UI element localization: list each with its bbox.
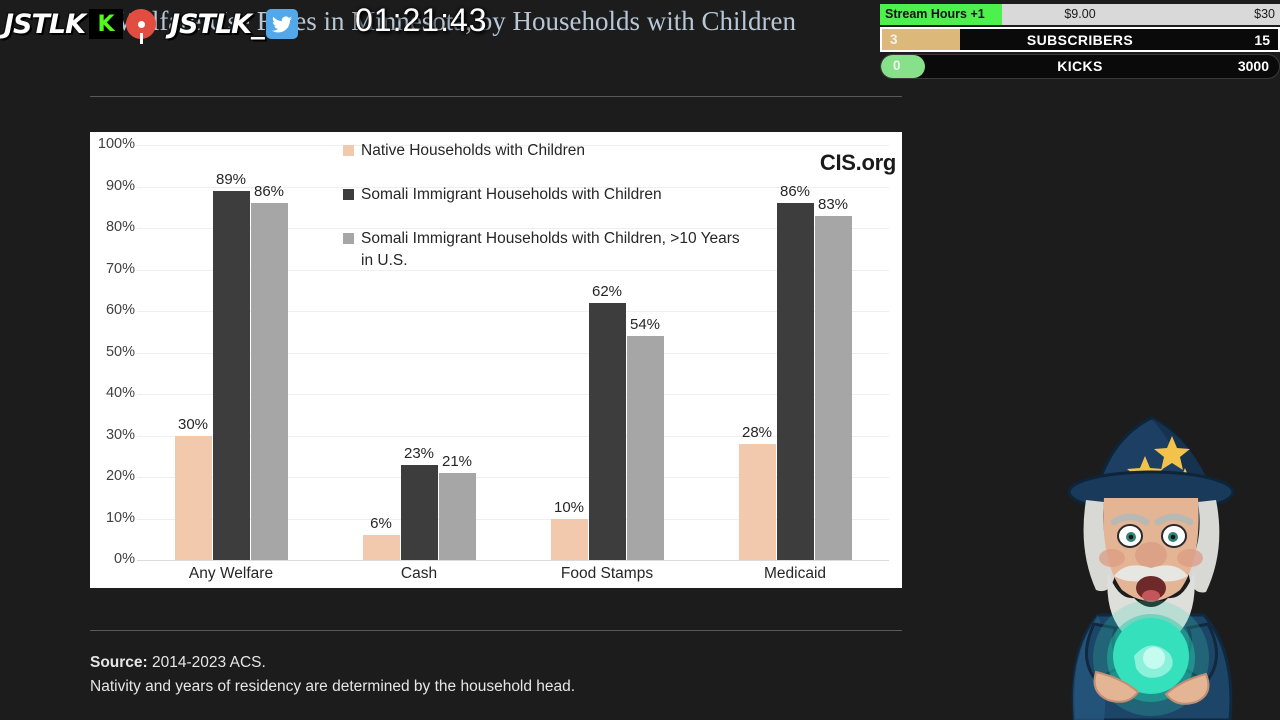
- bar-body: [401, 465, 438, 560]
- legend-swatch: [343, 233, 354, 244]
- bar-value-label: 54%: [630, 316, 660, 333]
- y-tick-label: 0%: [91, 551, 135, 567]
- y-tick-label: 40%: [91, 385, 135, 401]
- x-axis-label: Cash: [401, 565, 437, 583]
- gridline: [137, 560, 889, 561]
- bar-value-label: 28%: [742, 424, 772, 441]
- y-tick-label: 60%: [91, 302, 135, 318]
- goal-target-kicks: 3000: [1238, 58, 1269, 74]
- channel-badges: JSTLK K JSTLK_: [4, 4, 312, 44]
- wizard-avatar: [1038, 400, 1264, 720]
- y-tick-label: 100%: [91, 136, 135, 152]
- bar-value-label: 6%: [370, 515, 392, 532]
- y-tick-label: 90%: [91, 178, 135, 194]
- handle-label-1: JSTLK: [4, 9, 85, 40]
- y-tick-label: 80%: [91, 219, 135, 235]
- bar-value-label: 86%: [254, 183, 284, 200]
- bar-body: [777, 203, 814, 560]
- legend-item[interactable]: Native Households with Children: [343, 140, 763, 162]
- x-axis-label: Medicaid: [764, 565, 826, 583]
- source-line: Source: 2014-2023 ACS.: [90, 651, 850, 675]
- stream-screen: 3. Welfare Use Rates in Minnesota, by Ho…: [0, 0, 1280, 720]
- bar-body: [815, 216, 852, 560]
- legend-label: Native Households with Children: [361, 140, 585, 162]
- source-note: Nativity and years of residency are dete…: [90, 675, 850, 699]
- y-tick-label: 50%: [91, 344, 135, 360]
- goal-name-subs: SUBSCRIBERS: [882, 32, 1278, 48]
- bar-value-label: 86%: [780, 183, 810, 200]
- badge-twitter: JSTLK_: [170, 9, 298, 40]
- goal-bar-kicks: 0 KICKS 3000: [880, 54, 1280, 79]
- bar-value-label: 83%: [818, 196, 848, 213]
- bar-body: [175, 436, 212, 561]
- chart-legend: Native Households with ChildrenSomali Im…: [343, 140, 763, 294]
- badge-kick: JSTLK K: [4, 9, 156, 40]
- legend-item[interactable]: Somali Immigrant Households with Childre…: [343, 228, 763, 272]
- y-tick-label: 20%: [91, 468, 135, 484]
- source-divider: [90, 630, 902, 631]
- legend-label: Somali Immigrant Households with Childre…: [361, 184, 662, 206]
- goal-value-hours: $9.00: [880, 7, 1280, 21]
- bar-value-label: 30%: [178, 416, 208, 433]
- bar-body: [551, 519, 588, 561]
- goal-target-subs: 15: [1254, 32, 1270, 48]
- bar-body: [213, 191, 250, 560]
- x-axis-label: Food Stamps: [561, 565, 653, 583]
- bar-body: [589, 303, 626, 560]
- bar-body: [627, 336, 664, 560]
- legend-swatch: [343, 145, 354, 156]
- source-block: Source: 2014-2023 ACS. Nativity and year…: [90, 651, 850, 699]
- bar-body: [739, 444, 776, 560]
- cis-watermark: CIS.org: [820, 150, 896, 176]
- bar-group: 30%89%86%: [137, 145, 325, 560]
- bar-value-label: 23%: [404, 445, 434, 462]
- legend-swatch: [343, 189, 354, 200]
- goal-target-hours: $30: [1254, 7, 1275, 21]
- y-tick-label: 10%: [91, 510, 135, 526]
- chart-panel: 0%10%20%30%40%50%60%70%80%90%100% 30%89%…: [90, 132, 902, 588]
- rumble-icon: [126, 9, 156, 39]
- bar-value-label: 89%: [216, 171, 246, 188]
- goal-bar-subscribers: 3 SUBSCRIBERS 15: [880, 27, 1280, 52]
- source-value: 2014-2023 ACS.: [148, 654, 266, 671]
- legend-item[interactable]: Somali Immigrant Households with Childre…: [343, 184, 763, 206]
- kick-icon: K: [89, 9, 123, 39]
- source-label: Source:: [90, 654, 148, 671]
- bar-body: [439, 473, 476, 560]
- goal-name-kicks: KICKS: [881, 58, 1279, 74]
- bar-value-label: 21%: [442, 453, 472, 470]
- bar-body: [251, 203, 288, 560]
- legend-label: Somali Immigrant Households with Childre…: [361, 228, 741, 272]
- twitter-icon: [266, 9, 298, 39]
- stream-timer: 01:21:43: [355, 2, 488, 39]
- y-tick-label: 30%: [91, 427, 135, 443]
- goal-bar-stream-hours: Stream Hours +1 $9.00 $30: [880, 4, 1280, 25]
- y-axis: 0%10%20%30%40%50%60%70%80%90%100%: [90, 145, 135, 575]
- bar-value-label: 10%: [554, 499, 584, 516]
- stream-goal-overlay: Stream Hours +1 $9.00 $30 3 SUBSCRIBERS …: [880, 4, 1280, 77]
- bar-body: [363, 535, 400, 560]
- y-tick-label: 70%: [91, 261, 135, 277]
- handle-label-2: JSTLK_: [170, 9, 264, 40]
- title-divider: [90, 96, 902, 97]
- x-axis-labels: Any WelfareCashFood StampsMedicaid: [137, 565, 889, 589]
- x-axis-label: Any Welfare: [189, 565, 273, 583]
